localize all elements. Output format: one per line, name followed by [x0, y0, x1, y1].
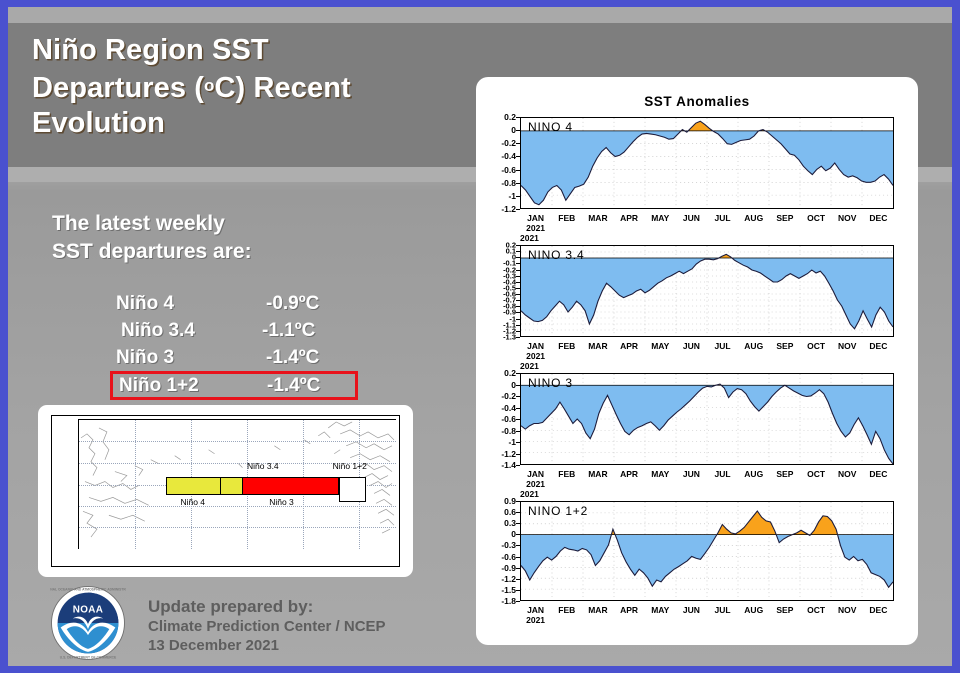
panel-label: NINO 3	[528, 376, 573, 390]
y-tick-label: -1.2	[501, 449, 516, 459]
nino-region-map: Niño 3.4 Niño 1+2 Niño 4 Niño 3 30N 20N …	[38, 405, 413, 577]
title-line-2: Departures (oC) Recent	[32, 68, 552, 106]
degree-symbol: o	[204, 76, 214, 95]
y-tick-label: -1.2	[501, 574, 516, 584]
departure-row-nino4: Niño 4 -0.9ºC	[116, 290, 366, 317]
x-tick-label: NOV	[830, 213, 864, 223]
y-tick-mark	[516, 156, 520, 157]
page-title: Niño Region SST Departures (oC) Recent E…	[32, 33, 552, 141]
y-tick-label: -0.2	[501, 138, 516, 148]
sst-anomalies-charts-panel: SST Anomalies NINO 4 0.20-0.2-0.4-0.6-0.…	[476, 77, 918, 645]
y-tick-mark	[516, 545, 520, 546]
y-tick-mark	[516, 590, 520, 591]
y-tick-mark	[516, 408, 520, 409]
y-tick-mark	[516, 276, 520, 277]
x-tick-label: SEP	[768, 469, 802, 479]
y-tick-mark	[516, 263, 520, 264]
y-tick-label: -0.6	[501, 414, 516, 424]
charts-title: SST Anomalies	[476, 94, 918, 109]
intro-text: The latest weekly SST departures are:	[52, 210, 412, 266]
title-line-3: Evolution	[32, 106, 552, 141]
y-tick-label: -0.6	[501, 552, 516, 562]
x-tick-label: OCT	[799, 213, 833, 223]
y-tick-label: 0.3	[504, 518, 516, 528]
y-tick-mark	[516, 442, 520, 443]
y-tick-mark	[516, 117, 520, 118]
map-frame: Niño 3.4 Niño 1+2 Niño 4 Niño 3 30N 20N …	[51, 415, 400, 567]
plot-area	[520, 373, 894, 465]
footer-credits: Update prepared by: Climate Prediction C…	[148, 596, 448, 655]
map-label-nino4: Niño 4	[180, 497, 205, 507]
x-tick-label: JUL	[706, 469, 740, 479]
footer-line-3: 13 December 2021	[148, 636, 448, 655]
map-label-nino34: Niño 3.4	[247, 461, 279, 471]
x-tick-label: JUN	[674, 213, 708, 223]
intro-line-2: SST departures are:	[52, 238, 412, 266]
panel-label: NINO 4	[528, 120, 573, 134]
y-tick-mark	[516, 209, 520, 210]
x-tick-label: OCT	[799, 341, 833, 351]
year-top-label: 2021	[520, 233, 539, 243]
x-tick-label: APR	[612, 469, 646, 479]
y-tick-mark	[516, 568, 520, 569]
y-tick-mark	[516, 257, 520, 258]
footer-line-1: Update prepared by:	[148, 596, 448, 617]
y-tick-label: -0.8	[501, 178, 516, 188]
panel-label: NINO 1+2	[528, 504, 588, 518]
y-tick-mark	[516, 170, 520, 171]
y-tick-mark	[516, 579, 520, 580]
x-tick-label: SEP	[768, 213, 802, 223]
y-tick-label: -1.8	[501, 596, 516, 606]
y-tick-mark	[516, 183, 520, 184]
x-axis-year-label: 2021	[519, 351, 553, 361]
y-tick-mark	[516, 294, 520, 295]
x-tick-label: JUL	[706, 605, 740, 615]
year-top-label: 2021	[520, 489, 539, 499]
y-tick-mark	[516, 319, 520, 320]
x-tick-label: JAN	[519, 469, 553, 479]
slide: Niño Region SST Departures (oC) Recent E…	[8, 7, 952, 666]
y-tick-label: -1	[508, 191, 516, 201]
y-tick-label: -0.2	[501, 391, 516, 401]
x-tick-label: JUL	[706, 213, 740, 223]
x-tick-label: MAY	[643, 469, 677, 479]
y-tick-label: -0.4	[501, 403, 516, 413]
x-tick-label: FEB	[550, 469, 584, 479]
y-tick-label: -0.9	[501, 563, 516, 573]
plot-area	[520, 117, 894, 209]
x-axis-year-label: 2021	[519, 479, 553, 489]
x-tick-label: OCT	[799, 469, 833, 479]
region-label: Niño 4	[116, 293, 266, 315]
x-tick-label: MAR	[581, 605, 615, 615]
y-tick-mark	[516, 557, 520, 558]
panel-label: NINO 3.4	[528, 248, 584, 262]
x-tick-label: OCT	[799, 605, 833, 615]
x-tick-label: MAY	[643, 213, 677, 223]
region-value: -1.4ºC	[267, 375, 320, 397]
x-tick-label: FEB	[550, 341, 584, 351]
map-plot-area: Niño 3.4 Niño 1+2 Niño 4 Niño 3 30N 20N …	[78, 419, 396, 549]
x-tick-label: SEP	[768, 341, 802, 351]
nino-region-box-nino12	[339, 477, 366, 502]
intro-line-1: The latest weekly	[52, 210, 412, 238]
region-value: -1.4ºC	[266, 347, 319, 369]
title-line-2-pre: Departures (	[32, 72, 204, 104]
x-tick-label: NOV	[830, 341, 864, 351]
y-tick-mark	[516, 300, 520, 301]
x-tick-label: NOV	[830, 605, 864, 615]
y-tick-mark	[516, 396, 520, 397]
y-tick-mark	[516, 523, 520, 524]
y-tick-mark	[516, 143, 520, 144]
x-tick-label: DEC	[861, 469, 895, 479]
departure-row-nino12-highlighted: Niño 1+2 -1.4ºC	[110, 371, 358, 400]
region-label: Niño 3.4	[116, 320, 266, 342]
x-tick-label: AUG	[737, 605, 771, 615]
y-tick-mark	[516, 601, 520, 602]
y-tick-label: -1.4	[501, 460, 516, 470]
x-tick-label: DEC	[861, 341, 895, 351]
plot-graphic	[521, 374, 893, 464]
y-tick-label: -1.3	[503, 333, 516, 342]
y-tick-mark	[516, 288, 520, 289]
svg-text:U.S. DEPARTMENT OF COMMERCE: U.S. DEPARTMENT OF COMMERCE	[60, 656, 117, 660]
y-tick-mark	[516, 196, 520, 197]
y-tick-mark	[516, 512, 520, 513]
x-tick-label: JAN	[519, 341, 553, 351]
y-tick-mark	[516, 270, 520, 271]
x-tick-label: AUG	[737, 469, 771, 479]
noaa-logo-text: NOAA	[73, 604, 104, 615]
y-tick-mark	[516, 501, 520, 502]
x-tick-label: JUN	[674, 605, 708, 615]
departure-row-nino34: Niño 3.4 -1.1ºC	[116, 317, 366, 344]
x-tick-label: JUN	[674, 341, 708, 351]
x-tick-label: MAY	[643, 605, 677, 615]
y-tick-mark	[516, 331, 520, 332]
y-tick-label: -1.2	[501, 204, 516, 214]
y-tick-mark	[516, 282, 520, 283]
y-tick-mark	[516, 373, 520, 374]
y-tick-mark	[516, 337, 520, 338]
x-tick-label: JAN	[519, 605, 553, 615]
x-tick-label: AUG	[737, 213, 771, 223]
x-axis-year-label: 2021	[519, 223, 553, 233]
year-top-label: 2021	[520, 361, 539, 371]
y-tick-mark	[516, 312, 520, 313]
x-tick-label: JAN	[519, 213, 553, 223]
x-tick-label: AUG	[737, 341, 771, 351]
y-tick-mark	[516, 465, 520, 466]
map-label-nino12: Niño 1+2	[333, 461, 367, 471]
y-tick-label: -1	[508, 437, 516, 447]
departure-row-nino3: Niño 3 -1.4ºC	[116, 344, 366, 371]
y-tick-mark	[516, 431, 520, 432]
x-tick-label: MAR	[581, 469, 615, 479]
header-top-band	[8, 7, 952, 23]
x-axis-year-label: 2021	[519, 615, 553, 625]
region-label: Niño 3	[116, 347, 266, 369]
y-tick-mark	[516, 245, 520, 246]
y-tick-label: -0.3	[501, 540, 516, 550]
y-tick-label: -1.5	[501, 585, 516, 595]
title-line-1: Niño Region SST	[32, 33, 552, 68]
departures-list: Niño 4 -0.9ºC Niño 3.4 -1.1ºC Niño 3 -1.…	[116, 290, 366, 400]
region-value: -1.1ºC	[262, 320, 315, 342]
region-value: -0.9ºC	[266, 293, 319, 315]
y-tick-mark	[516, 534, 520, 535]
y-tick-label: 0.9	[504, 496, 516, 506]
y-tick-mark	[516, 130, 520, 131]
y-tick-label: 0.2	[504, 368, 516, 378]
x-tick-label: FEB	[550, 605, 584, 615]
x-tick-label: MAR	[581, 341, 615, 351]
noaa-logo: NOAA NATIONAL OCEANIC AND ATMOSPHERIC AD…	[50, 585, 126, 661]
region-label: Niño 1+2	[119, 375, 269, 397]
x-tick-label: JUL	[706, 341, 740, 351]
y-tick-label: 0.2	[504, 112, 516, 122]
x-tick-label: NOV	[830, 469, 864, 479]
y-tick-label: -0.8	[501, 426, 516, 436]
y-tick-mark	[516, 325, 520, 326]
y-tick-mark	[516, 306, 520, 307]
y-tick-label: -0.6	[501, 165, 516, 175]
y-tick-label: 0.6	[504, 507, 516, 517]
y-tick-label: -0.4	[501, 151, 516, 161]
x-tick-label: FEB	[550, 213, 584, 223]
x-tick-label: MAR	[581, 213, 615, 223]
x-tick-label: MAY	[643, 341, 677, 351]
y-tick-mark	[516, 419, 520, 420]
y-tick-mark	[516, 454, 520, 455]
x-tick-label: SEP	[768, 605, 802, 615]
nino-region-box-nino3	[242, 477, 339, 494]
x-tick-label: APR	[612, 605, 646, 615]
x-tick-label: APR	[612, 341, 646, 351]
svg-text:NATIONAL OCEANIC AND ATMOSPHER: NATIONAL OCEANIC AND ATMOSPHERIC ADMINIS…	[50, 587, 126, 591]
x-tick-label: DEC	[861, 213, 895, 223]
x-tick-label: JUN	[674, 469, 708, 479]
x-tick-label: APR	[612, 213, 646, 223]
y-tick-mark	[516, 385, 520, 386]
y-tick-mark	[516, 251, 520, 252]
footer-line-2: Climate Prediction Center / NCEP	[148, 617, 448, 636]
map-label-nino3: Niño 3	[269, 497, 294, 507]
title-line-2-post: C) Recent	[215, 72, 351, 104]
plot-graphic	[521, 118, 893, 208]
x-tick-label: DEC	[861, 605, 895, 615]
